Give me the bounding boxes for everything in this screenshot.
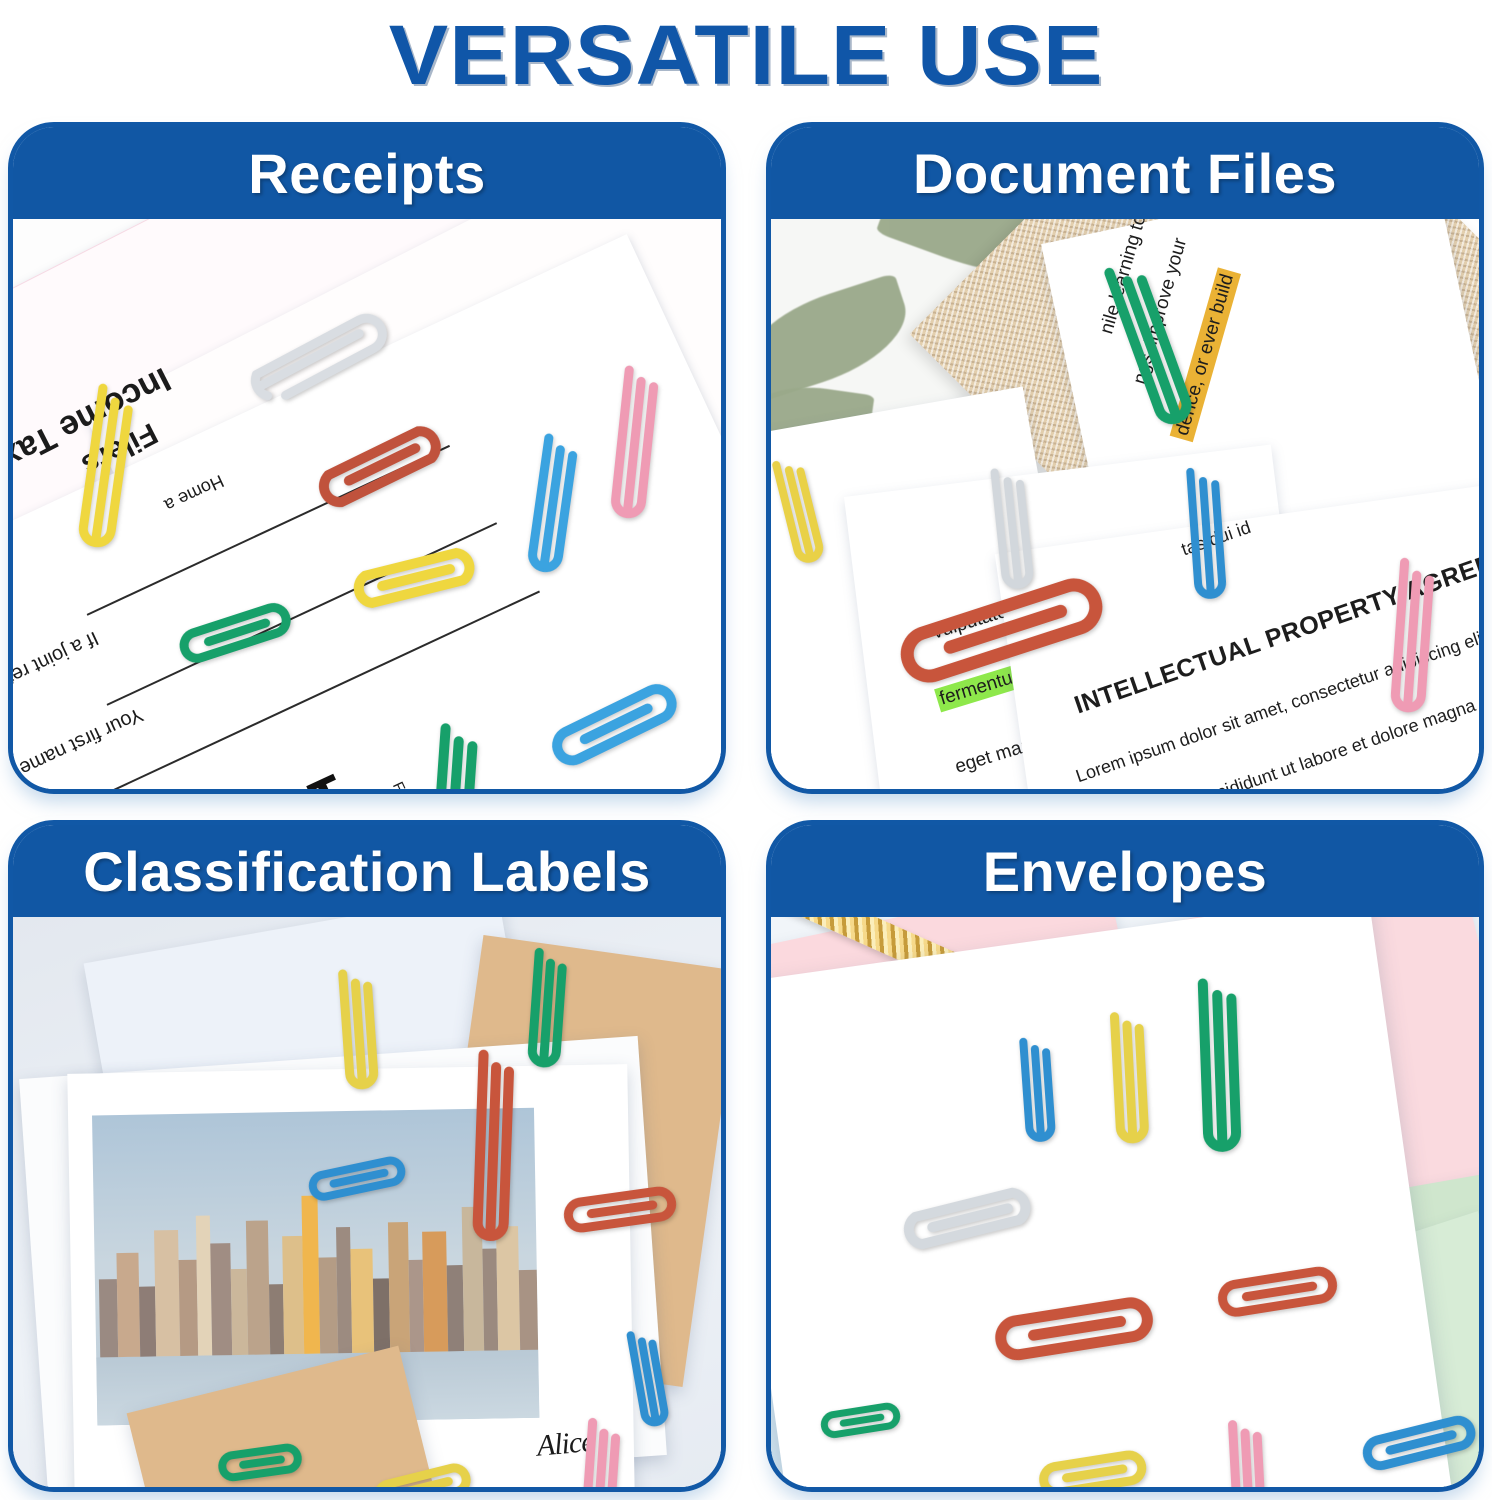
- card-header-receipts: Receipts: [13, 127, 721, 219]
- card-classification-labels: Classification Labels: [8, 820, 726, 1492]
- panel-grid: Receipts y, state Income Tax Return f: [8, 122, 1484, 1492]
- paperclip-green: [1188, 974, 1249, 1176]
- infographic-page: VERSATILE USE Receipts y,: [0, 0, 1492, 1500]
- panel-receipts: Receipts y, state Income Tax Return f: [8, 122, 726, 794]
- panel-classification-labels: Classification Labels: [8, 820, 726, 1492]
- photo-document-files: nile learning to be ngs, improve your de…: [771, 219, 1479, 789]
- card-header-envelopes: Envelopes: [771, 825, 1479, 917]
- panel-envelopes: Envelopes: [766, 820, 1484, 1492]
- panel-title-envelopes: Envelopes: [983, 839, 1268, 904]
- page-title-bar: VERSATILE USE: [0, 0, 1492, 110]
- panel-document-files: Document Files nile learning to be ngs, …: [766, 122, 1484, 794]
- paperclip-blue: [1176, 461, 1236, 616]
- eucalyptus-leaf: [771, 273, 920, 404]
- photo-envelopes: [771, 917, 1479, 1487]
- paperclip-green: [417, 717, 489, 789]
- photo-receipts: y, state Income Tax Return for Filers De…: [13, 219, 721, 789]
- paperclip-red: [461, 1046, 521, 1268]
- paperclip-green: [516, 943, 575, 1082]
- paperclip-blue: [1011, 1034, 1063, 1155]
- card-document-files: Document Files nile learning to be ngs, …: [766, 122, 1484, 794]
- panel-title-document-files: Document Files: [913, 141, 1337, 206]
- paperclip-yellow: [328, 963, 388, 1106]
- card-envelopes: Envelopes: [766, 820, 1484, 1492]
- paperclip-pink: [1219, 1416, 1273, 1487]
- page-title: VERSATILE USE: [389, 7, 1104, 104]
- card-header-document-files: Document Files: [771, 127, 1479, 219]
- paperclip-pink: [568, 1413, 630, 1487]
- card-receipts: Receipts y, state Income Tax Return f: [8, 122, 726, 794]
- panel-title-classification-labels: Classification Labels: [83, 839, 651, 904]
- photo-classification-labels: Alice: [13, 917, 721, 1487]
- card-header-classification-labels: Classification Labels: [13, 825, 721, 917]
- panel-title-receipts: Receipts: [248, 141, 485, 206]
- paperclip-yellow: [1101, 1008, 1157, 1160]
